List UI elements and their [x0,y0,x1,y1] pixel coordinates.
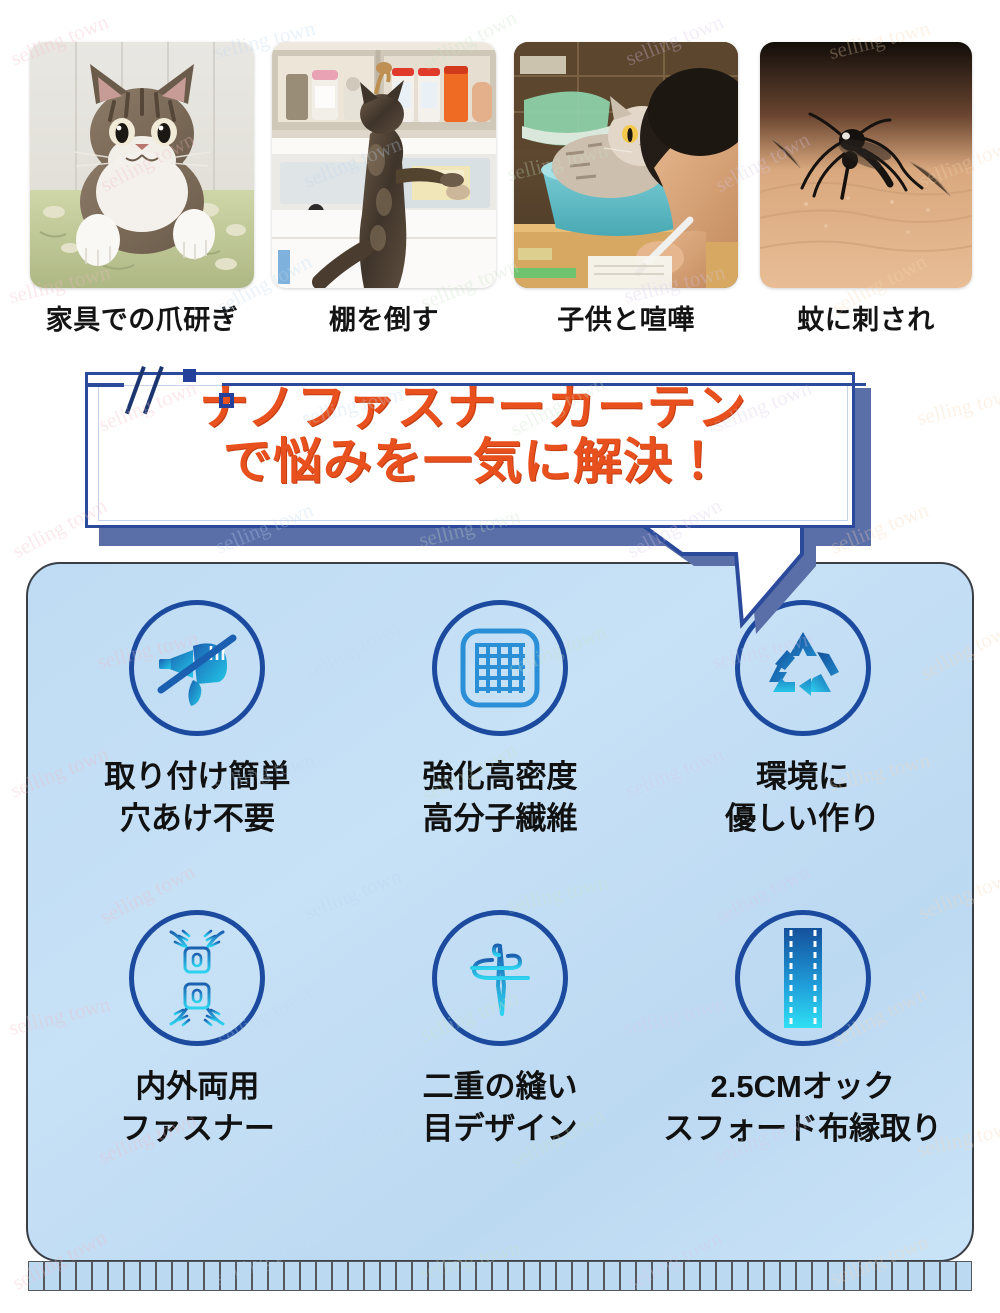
feature-label-line-2: 高分子繊維 [422,798,577,840]
feature-label-line-2: スフォード布縁取り [663,1108,942,1150]
feature-label-line-2: ファスナー [120,1108,275,1150]
headline-decorations [0,0,1000,560]
feature-label: 取り付け簡単 穴あけ不要 [104,756,290,839]
feature-item-5: 2.5CMオック スフォード布縁取り [651,910,954,1220]
dense-mesh-icon [457,625,543,711]
feature-label-line-1: 環境に [725,756,880,798]
feature-label: 2.5CMオック スフォード布縁取り [663,1066,942,1149]
feature-label: 内外両用 ファスナー [120,1066,275,1149]
feature-icon-circle [432,910,568,1046]
feature-item-3: 内外両用 ファスナー [46,910,349,1220]
feature-label: 二重の縫い 目デザイン [422,1066,577,1149]
needle-thread-icon [452,930,548,1026]
deco-square-outline [219,393,234,408]
deco-line-right [222,383,866,386]
feature-label-line-2: 目デザイン [422,1108,577,1150]
deco-slash-2 [143,366,164,414]
deco-slash-1 [125,366,146,414]
feature-label: 強化高密度 高分子繊維 [422,756,577,839]
feature-label-line-1: 2.5CMオック [663,1066,942,1108]
feature-icon-circle [129,910,265,1046]
deco-line-left [86,383,124,387]
deco-square-filled [183,369,196,382]
feature-label: 環境に 優しい作り [725,756,880,839]
feature-label-line-1: 取り付け簡単 [104,756,290,798]
recycle-icon [759,624,847,712]
two-way-zipper-icon [157,926,237,1030]
feature-label-line-1: 強化高密度 [422,756,577,798]
feature-item-0: 取り付け簡単 穴あけ不要 [46,600,349,910]
no-drill-icon [149,620,245,716]
feature-icon-circle [129,600,265,736]
zipper-teeth-decoration [28,1261,972,1291]
features-grid: 取り付け簡単 穴あけ不要 強化高密度 高分子繊維 [46,600,954,1220]
feature-item-1: 強化高密度 高分子繊維 [349,600,652,910]
feature-label-line-1: 二重の縫い [422,1066,577,1108]
fabric-edging-icon [776,926,830,1030]
feature-label-line-2: 優しい作り [725,798,880,840]
feature-icon-circle [432,600,568,736]
feature-icon-circle [735,910,871,1046]
feature-label-line-1: 内外両用 [120,1066,275,1108]
feature-label-line-2: 穴あけ不要 [104,798,290,840]
feature-item-4: 二重の縫い 目デザイン [349,910,652,1220]
feature-item-2: 環境に 優しい作り [651,600,954,910]
